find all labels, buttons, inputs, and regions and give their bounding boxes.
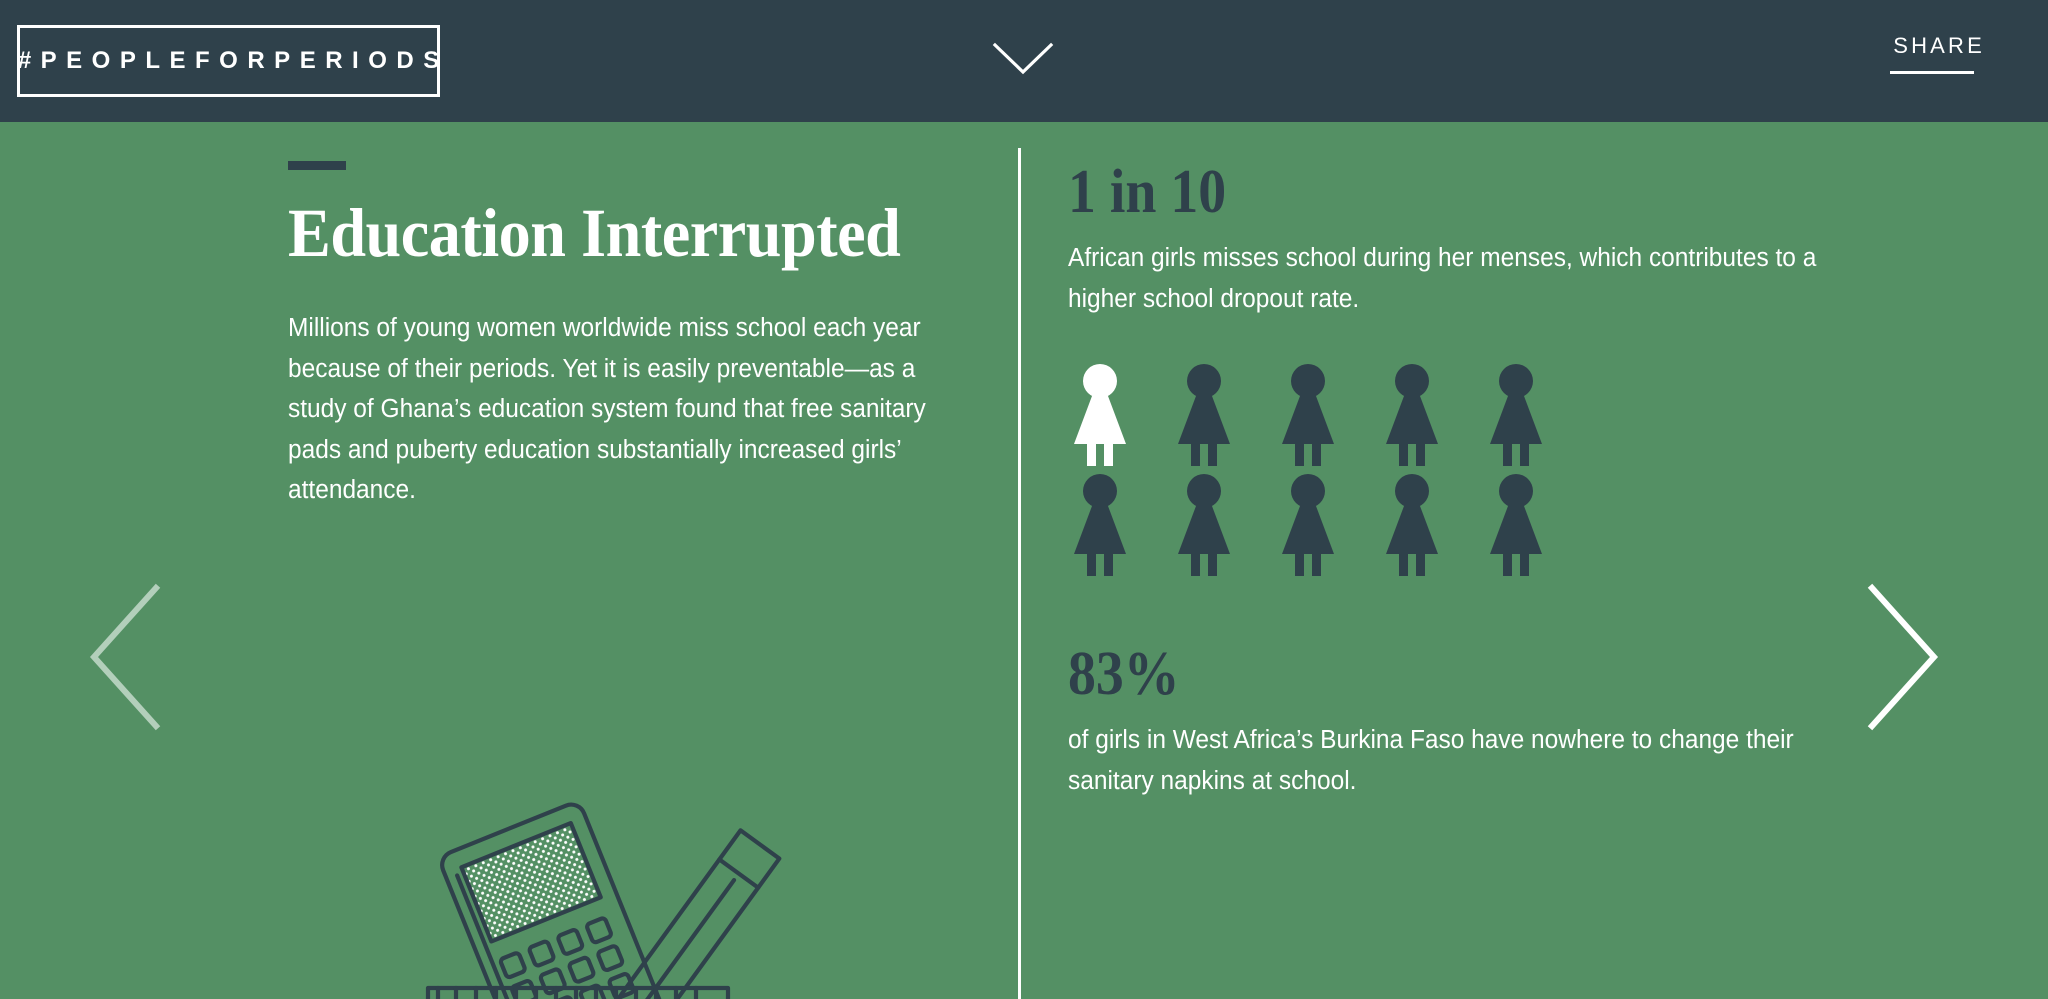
stat-block-1: 1 in 10 African girls misses school duri…	[1068, 122, 1888, 319]
title-rule	[288, 161, 346, 170]
calculator-pencil-ruler-icon	[360, 752, 830, 999]
stat-number: 83%	[1068, 642, 1806, 707]
female-figure-icon	[1172, 472, 1276, 582]
stat-block-2: 83% of girls in West Africa’s Burkina Fa…	[1068, 582, 1888, 801]
female-figure-icon	[1172, 362, 1276, 472]
share-underline	[1890, 71, 1974, 74]
female-figure-icon	[1380, 472, 1484, 582]
column-divider	[1018, 148, 1021, 999]
chevron-left-icon[interactable]	[82, 582, 172, 732]
female-figure-icon	[1484, 472, 1588, 582]
stat-description: African girls misses school during her m…	[1068, 238, 1836, 319]
left-column: Education Interrupted Millions of young …	[288, 122, 988, 511]
slide-content: Education Interrupted Millions of young …	[0, 122, 2048, 999]
female-figure-icon	[1068, 362, 1172, 472]
female-figure-icon	[1276, 472, 1380, 582]
site-logo-label: #PEOPLEFORPERIODS	[8, 47, 448, 75]
chevron-down-icon[interactable]	[992, 42, 1054, 76]
right-column: 1 in 10 African girls misses school duri…	[1068, 122, 1888, 801]
female-figure-icon	[1068, 472, 1172, 582]
share-label: SHARE	[1890, 33, 1985, 59]
stat-description: of girls in West Africa’s Burkina Faso h…	[1068, 720, 1836, 801]
site-header: #PEOPLEFORPERIODS SHARE	[0, 0, 2048, 122]
slide-page: #PEOPLEFORPERIODS SHARE Education Interr…	[0, 0, 2048, 999]
chevron-right-icon[interactable]	[1856, 582, 1946, 732]
page-title: Education Interrupted	[288, 198, 939, 268]
female-figure-icon	[1276, 362, 1380, 472]
site-logo[interactable]: #PEOPLEFORPERIODS	[17, 25, 440, 97]
share-button[interactable]: SHARE	[1890, 33, 1985, 74]
stat-number: 1 in 10	[1068, 160, 1806, 225]
female-figure-icon	[1484, 362, 1588, 472]
body-paragraph: Millions of young women worldwide miss s…	[288, 308, 960, 511]
pictogram-chart	[1068, 362, 1588, 582]
female-figure-icon	[1380, 362, 1484, 472]
